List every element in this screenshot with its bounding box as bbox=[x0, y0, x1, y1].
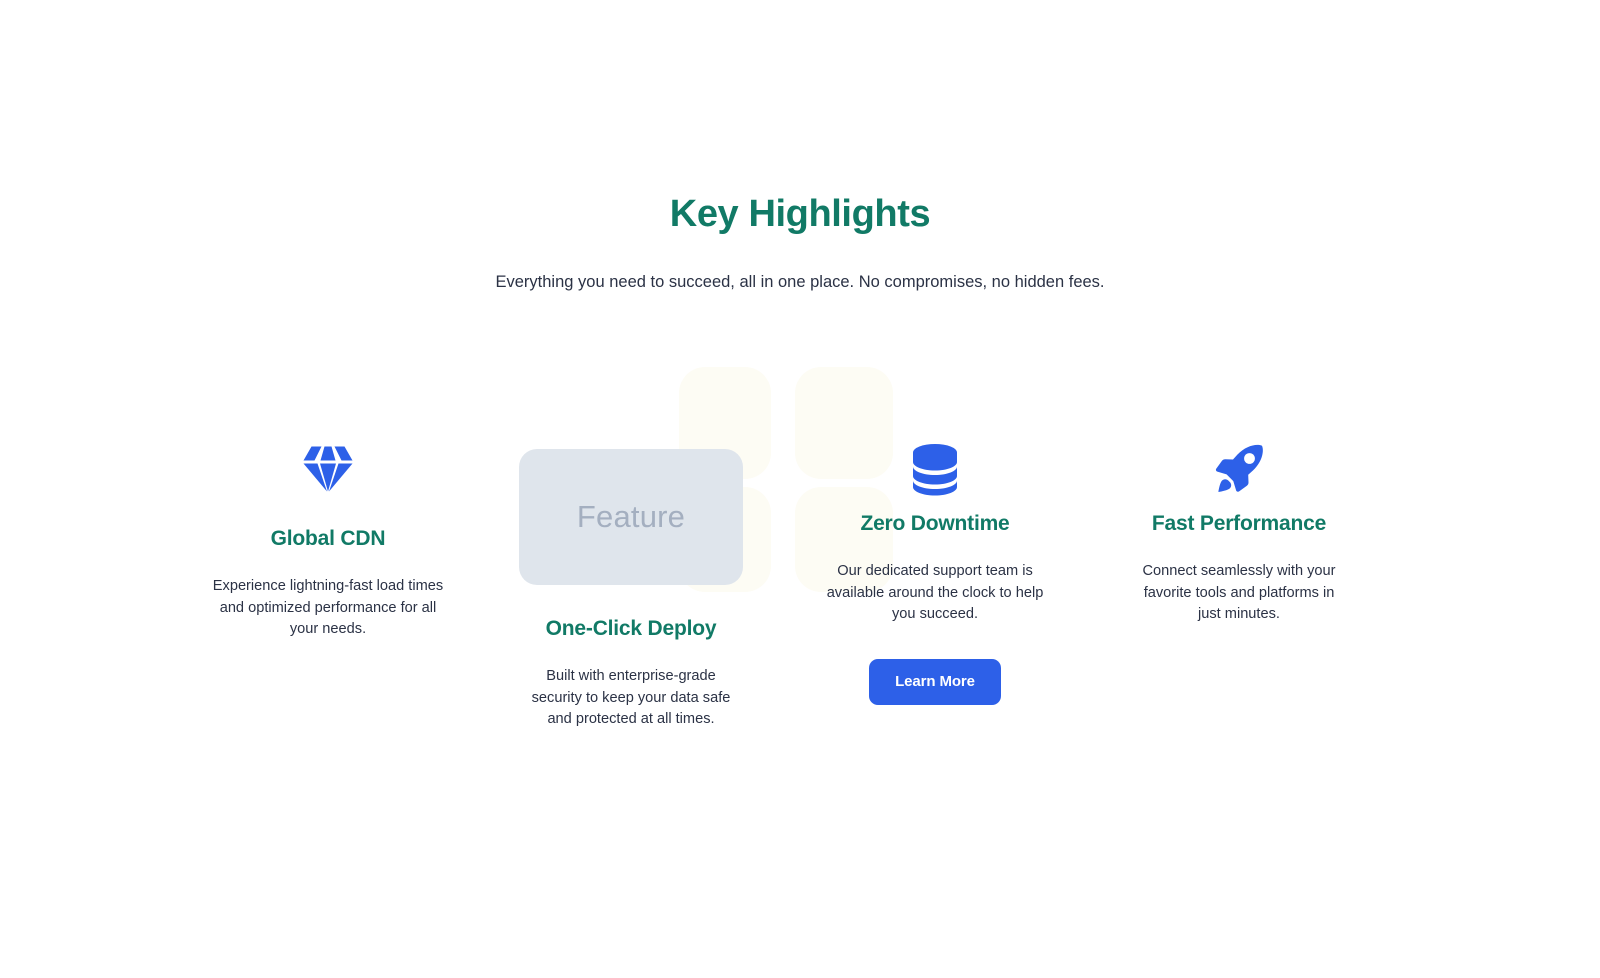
database-icon bbox=[805, 440, 1065, 498]
feature-description: Our dedicated support team is available … bbox=[822, 538, 1048, 626]
feature-title: Fast Performance bbox=[1109, 498, 1369, 538]
learn-more-button[interactable]: Learn More bbox=[869, 659, 1001, 705]
rocket-icon bbox=[1109, 440, 1369, 498]
feature-card-one-click-deploy: Feature One-Click Deploy Built with ente… bbox=[501, 440, 761, 731]
feature-image-placeholder: Feature bbox=[519, 449, 743, 585]
feature-description: Connect seamlessly with your favorite to… bbox=[1138, 538, 1340, 626]
feature-title: Global CDN bbox=[198, 498, 458, 553]
feature-card-global-cdn: Global CDN Experience lightning-fast loa… bbox=[198, 440, 458, 641]
feature-list: Global CDN Experience lightning-fast loa… bbox=[0, 0, 1600, 978]
feature-title: One-Click Deploy bbox=[501, 585, 761, 643]
feature-description: Experience lightning-fast load times and… bbox=[212, 553, 444, 641]
feature-title: Zero Downtime bbox=[805, 498, 1065, 538]
feature-card-fast-performance: Fast Performance Connect seamlessly with… bbox=[1109, 440, 1369, 626]
feature-description: Built with enterprise-grade security to … bbox=[523, 643, 739, 731]
gem-icon bbox=[198, 440, 458, 498]
feature-card-zero-downtime: Zero Downtime Our dedicated support team… bbox=[805, 440, 1065, 705]
feature-cta-container: Learn More bbox=[805, 626, 1065, 705]
feature-placeholder-label: Feature bbox=[577, 499, 685, 535]
